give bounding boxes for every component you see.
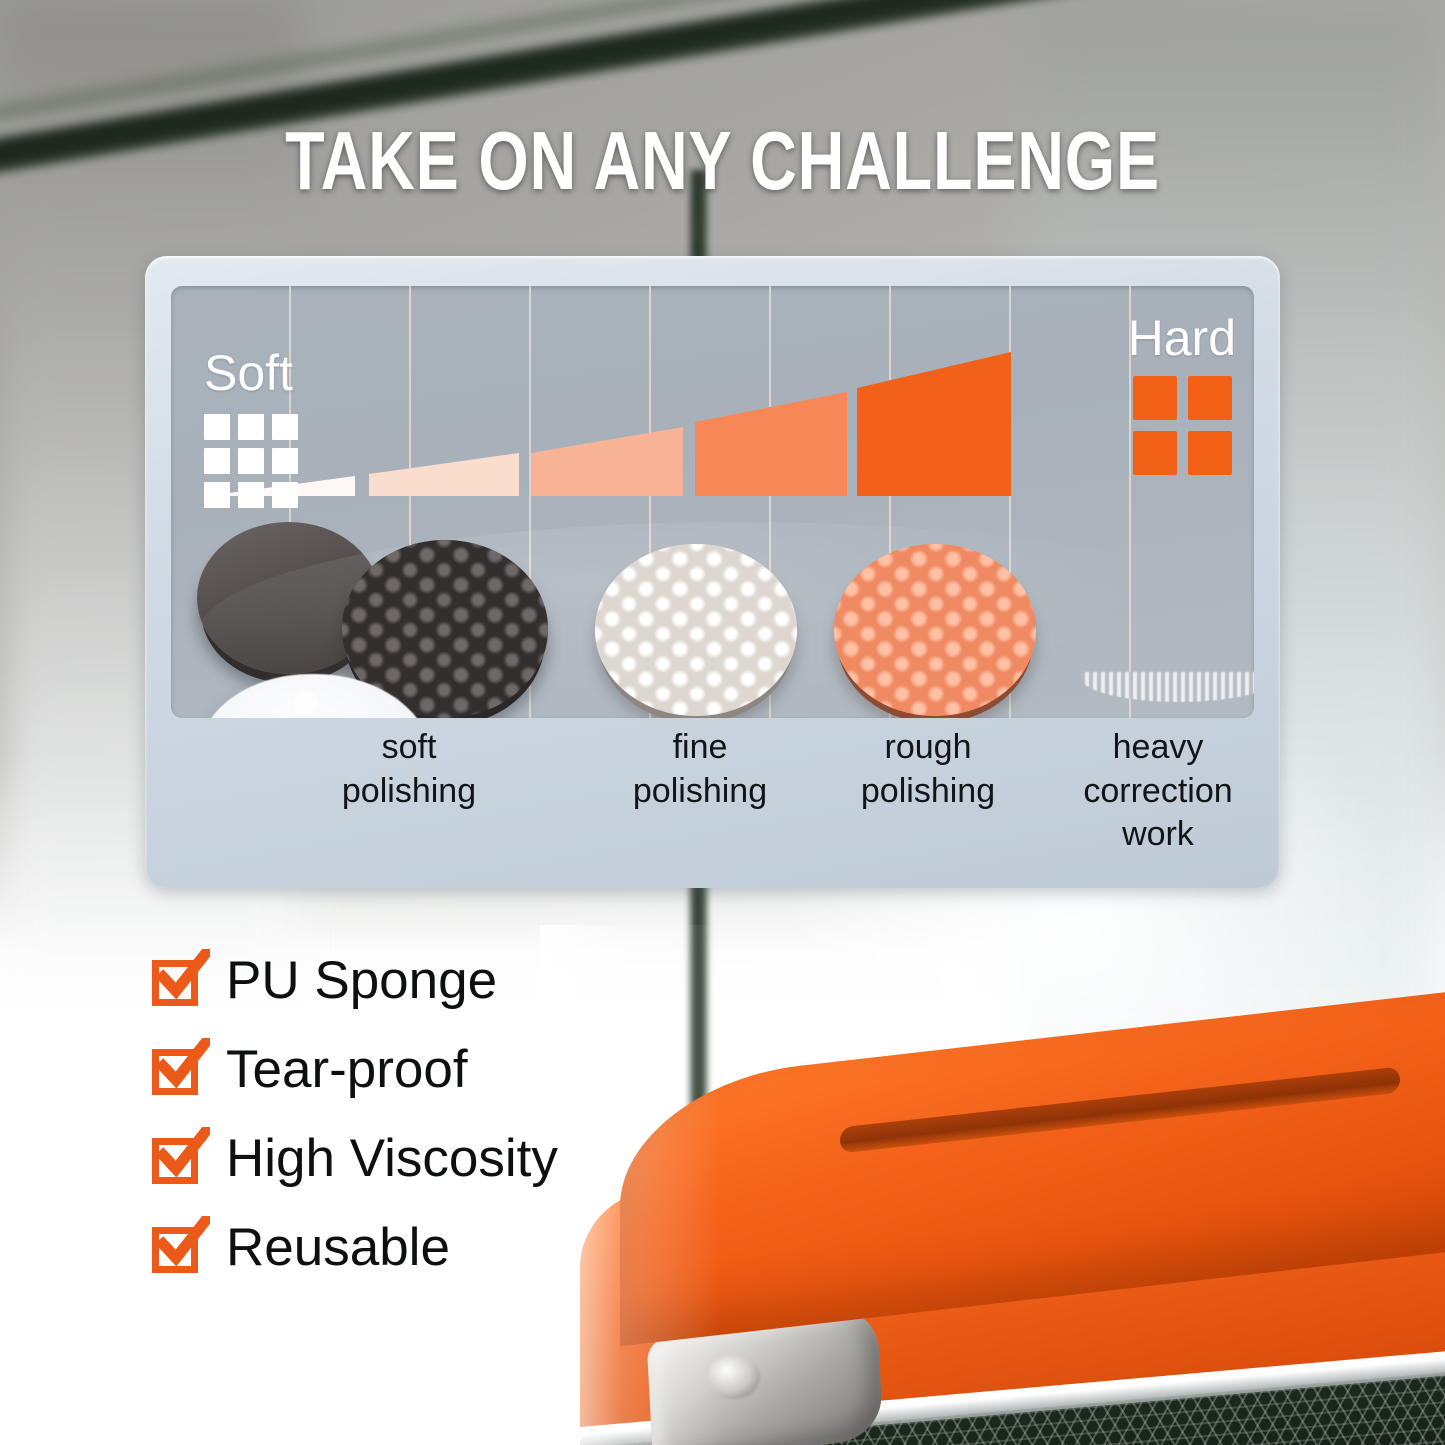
feature-checklist: PU Sponge Tear-proof High Viscosity (150, 936, 790, 1292)
scale-soft-label: Soft (204, 348, 293, 398)
grid-2x2-icon (1133, 376, 1232, 475)
scale-hard-label: Hard (1128, 313, 1236, 363)
feature-item-pu-sponge: PU Sponge (150, 936, 790, 1025)
feature-item-tear-proof: Tear-proof (150, 1025, 790, 1114)
grid-3x3-icon (204, 414, 298, 508)
checkbox-checked-icon (150, 1132, 204, 1186)
hardness-chart: Soft Hard (171, 286, 1254, 718)
hardness-bar-2 (369, 448, 519, 496)
feature-label: PU Sponge (226, 954, 497, 1007)
checkbox-checked-icon (150, 1221, 204, 1275)
checkbox-checked-icon (150, 954, 204, 1008)
feature-item-high-viscosity: High Viscosity (150, 1114, 790, 1203)
feature-label: Tear-proof (226, 1043, 468, 1096)
hardness-bar-5 (857, 348, 1011, 496)
hardness-bar-4 (695, 386, 847, 496)
pad-caption-soft-polishing: soft polishing (289, 726, 529, 813)
feature-item-reusable: Reusable (150, 1203, 790, 1292)
checkbox-checked-icon (150, 1043, 204, 1097)
feature-label: Reusable (226, 1221, 450, 1274)
pad-caption-fine-polishing: fine polishing (585, 726, 815, 813)
pad-caption-heavy-correction: heavy correction work (1043, 726, 1273, 857)
pad-row (197, 522, 1254, 718)
infographic-page: TAKE ON ANY CHALLENGE (0, 0, 1445, 1445)
pad-captions: soft polishing fine polishing rough poli… (171, 726, 1254, 876)
pad-white-waffle (595, 544, 797, 716)
pad-caption-rough-polishing: rough polishing (813, 726, 1043, 813)
pad-orange-waffle (834, 544, 1036, 716)
hardness-bar-3 (531, 421, 683, 496)
feature-label: High Viscosity (226, 1132, 558, 1185)
car-headlight-bulb (708, 1355, 760, 1399)
hardness-scale-panel: Soft Hard soft polishing fine polish (145, 256, 1280, 888)
page-title: TAKE ON ANY CHALLENGE (159, 119, 1286, 202)
